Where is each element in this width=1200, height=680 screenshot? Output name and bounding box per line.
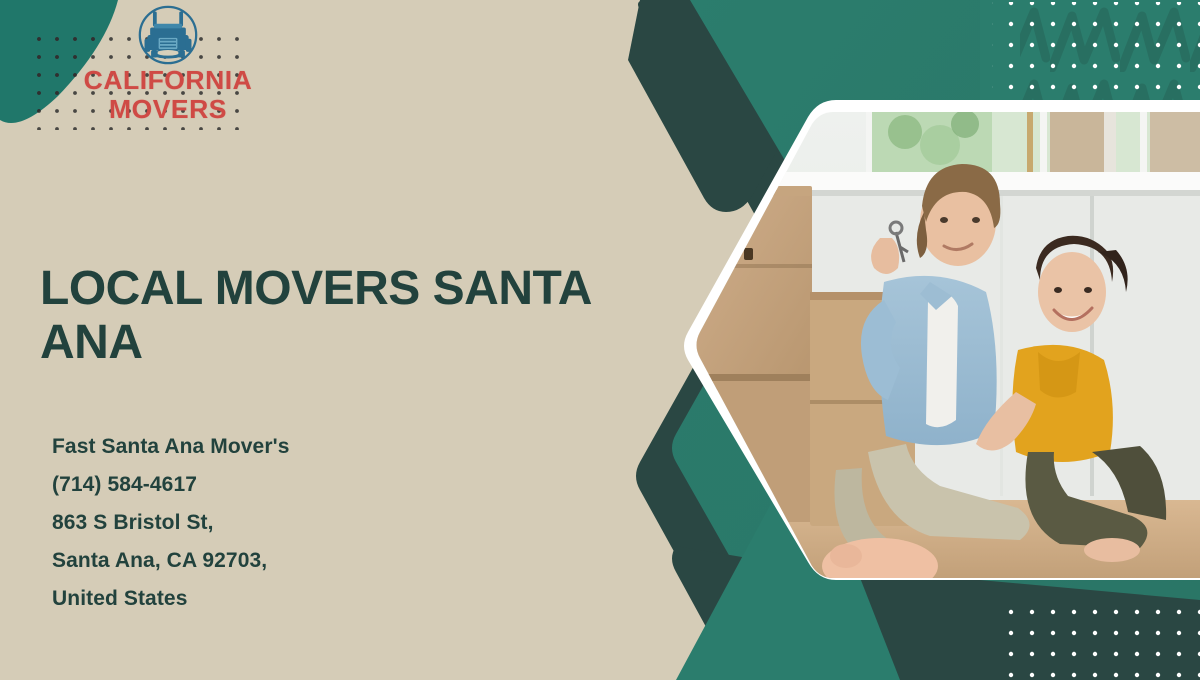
local-movers-banner: CALIFORNIA MOVERS LOCAL MOVERS SANTA ANA… <box>0 0 1200 680</box>
contact-country: United States <box>52 580 512 618</box>
contact-city-state-zip: Santa Ana, CA 92703, <box>52 542 512 580</box>
bottom-right-decor <box>996 608 1200 680</box>
contact-block: Fast Santa Ana Mover's (714) 584-4617 86… <box>52 428 512 618</box>
top-right-decor <box>980 0 1200 114</box>
logo-line-movers: MOVERS <box>56 95 280 124</box>
page-title: LOCAL MOVERS SANTA ANA <box>40 262 625 370</box>
logo-line-california: CALIFORNIA <box>56 66 280 95</box>
semi-truck-front-in-circle-icon <box>130 4 206 66</box>
contact-phone[interactable]: (714) 584-4617 <box>52 466 512 504</box>
contact-street: 863 S Bristol St, <box>52 504 512 542</box>
contact-business-name: Fast Santa Ana Mover's <box>52 428 512 466</box>
company-logo[interactable]: CALIFORNIA MOVERS <box>58 4 278 124</box>
